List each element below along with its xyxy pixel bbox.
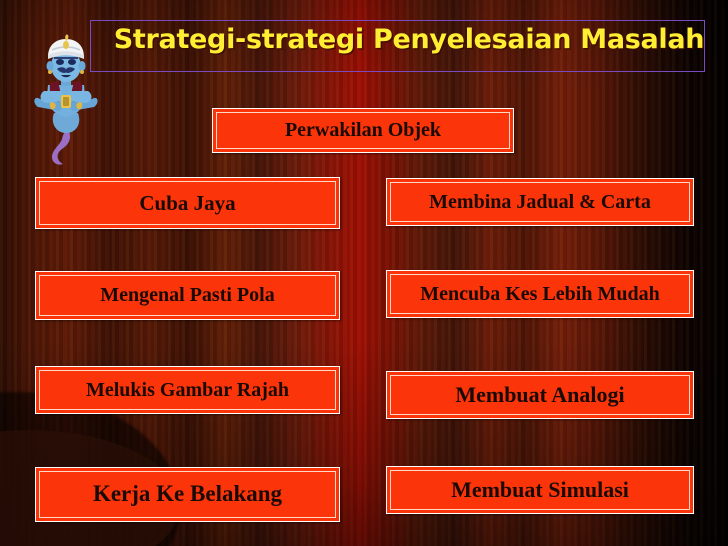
heading-box[interactable]: Perwakilan Objek: [212, 108, 514, 153]
strategy-box-cuba-jaya[interactable]: Cuba Jaya: [35, 177, 340, 229]
strategy-box-membina-jadual-carta[interactable]: Membina Jadual & Carta: [386, 178, 694, 226]
strategy-box-label: Membina Jadual & Carta: [429, 192, 651, 213]
strategy-box-membuat-simulasi[interactable]: Membuat Simulasi: [386, 466, 694, 514]
strategy-box-inner: Cuba Jaya: [39, 181, 336, 225]
strategy-box-inner: Membina Jadual & Carta: [390, 182, 690, 222]
strategy-box-inner: Membuat Analogi: [390, 375, 690, 415]
strategy-box-label: Membuat Analogi: [455, 383, 624, 406]
strategy-box-kerja-ke-belakang[interactable]: Kerja Ke Belakang: [35, 467, 340, 522]
strategy-box-label: Kerja Ke Belakang: [93, 482, 282, 506]
strategy-box-label: Membuat Simulasi: [451, 478, 629, 501]
strategy-box-inner: Mengenal Pasti Pola: [39, 275, 336, 316]
strategy-box-melukis-gambar-rajah[interactable]: Melukis Gambar Rajah: [35, 366, 340, 414]
heading-box-inner: Perwakilan Objek: [216, 112, 510, 149]
page-title: Strategi-strategi Penyelesaian Masalah: [90, 24, 728, 55]
strategy-box-label: Mencuba Kes Lebih Mudah: [420, 284, 659, 305]
slide-canvas: Strategi-strategi Penyelesaian Masalah P…: [0, 0, 728, 546]
strategy-box-membuat-analogi[interactable]: Membuat Analogi: [386, 371, 694, 419]
strategy-box-label: Melukis Gambar Rajah: [86, 380, 289, 401]
strategy-box-label: Mengenal Pasti Pola: [100, 285, 274, 306]
heading-box-label: Perwakilan Objek: [285, 120, 441, 141]
strategy-box-mengenal-pasti-pola[interactable]: Mengenal Pasti Pola: [35, 271, 340, 320]
strategy-box-mencuba-kes-lebih-mudah[interactable]: Mencuba Kes Lebih Mudah: [386, 270, 694, 318]
strategy-box-inner: Kerja Ke Belakang: [39, 471, 336, 518]
strategy-box-inner: Melukis Gambar Rajah: [39, 370, 336, 410]
strategy-box-inner: Mencuba Kes Lebih Mudah: [390, 274, 690, 314]
strategy-box-inner: Membuat Simulasi: [390, 470, 690, 510]
strategy-box-label: Cuba Jaya: [139, 192, 235, 214]
